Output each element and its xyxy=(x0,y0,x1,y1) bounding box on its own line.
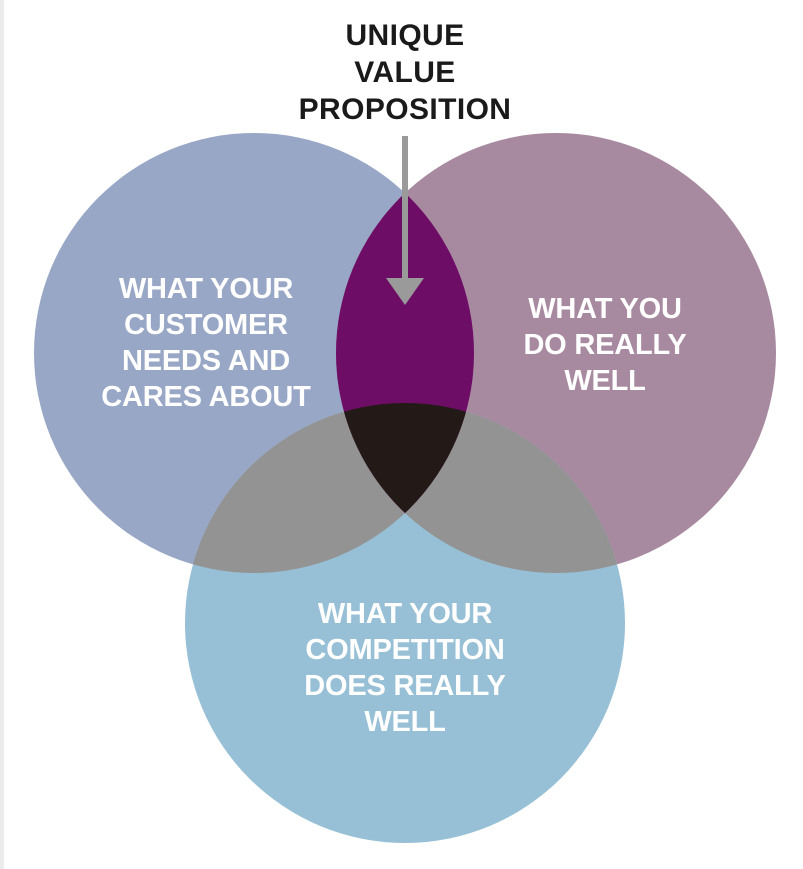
title-line-2: VALUE xyxy=(354,56,455,89)
label-customer-line-3: NEEDS AND xyxy=(122,345,290,377)
label-customer-line-2: CUSTOMER xyxy=(124,309,288,341)
title-line-1: UNIQUE xyxy=(345,19,464,52)
label-you-line-1: WHAT YOU xyxy=(528,293,682,325)
label-you-line-2: DO REALLY xyxy=(523,329,686,361)
label-customer-line-4: CARES ABOUT xyxy=(101,381,311,413)
label-competition-line-1: WHAT YOUR xyxy=(318,598,493,630)
label-competition-line-2: COMPETITION xyxy=(305,634,504,666)
page-title: UNIQUE VALUE PROPOSITION xyxy=(299,19,512,126)
title-line-3: PROPOSITION xyxy=(299,93,512,126)
label-competition-line-4: WELL xyxy=(364,706,445,738)
label-you-line-3: WELL xyxy=(564,365,645,397)
arrow-shaft xyxy=(402,136,408,282)
label-competition-line-3: DOES REALLY xyxy=(304,670,505,702)
label-customer-line-1: WHAT YOUR xyxy=(119,273,294,305)
venn-diagram-svg: UNIQUE VALUE PROPOSITION WHAT YOUR CUSTO… xyxy=(4,0,803,869)
venn-diagram-canvas: UNIQUE VALUE PROPOSITION WHAT YOUR CUSTO… xyxy=(0,0,803,869)
